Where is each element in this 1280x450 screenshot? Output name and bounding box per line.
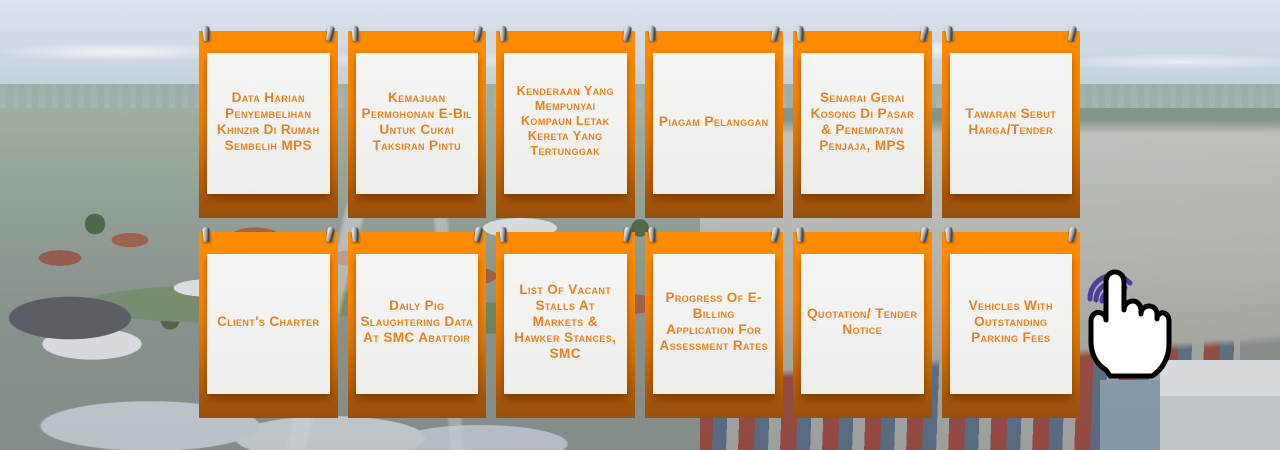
tile-title: List Of Vacant Stalls At Markets & Hawke… bbox=[509, 282, 622, 362]
tile-title: Client's Charter bbox=[217, 314, 319, 330]
service-tile-grid: Data Harian Penyembelihan Khinzir Di Rum… bbox=[199, 31, 1080, 418]
paper-clip-right-icon bbox=[920, 26, 929, 42]
tile-title: Data Harian Penyembelihan Khinzir Di Rum… bbox=[212, 90, 325, 154]
service-tile-9[interactable]: List Of Vacant Stalls At Markets & Hawke… bbox=[496, 232, 635, 418]
paper-note-icon[interactable]: Kenderaan Yang Mempunyai Kompaun Letak K… bbox=[504, 53, 627, 194]
paper-clip-left-icon bbox=[945, 227, 954, 243]
service-tile-8[interactable]: Daily Pig Slaughtering Data At SMC Abatt… bbox=[348, 232, 487, 418]
paper-clip-right-icon bbox=[474, 227, 483, 243]
paper-note-icon[interactable]: Progress Of e-Billing Application For As… bbox=[653, 254, 776, 394]
paper-note-icon[interactable]: Piagam Pelanggan bbox=[653, 53, 776, 194]
paper-clip-right-icon bbox=[771, 227, 780, 243]
tile-title: Progress Of e-Billing Application For As… bbox=[658, 290, 771, 354]
service-tile-7[interactable]: Client's Charter bbox=[199, 232, 338, 418]
tile-title: Tawaran Sebut Harga/Tender bbox=[955, 106, 1068, 138]
paper-clip-left-icon bbox=[945, 26, 954, 42]
paper-clip-right-icon bbox=[326, 26, 335, 42]
paper-note-icon[interactable]: Senarai Gerai Kosong di Pasar & Penempat… bbox=[801, 53, 924, 194]
service-tile-2[interactable]: Kemajuan Permohonan e-Bil Untuk Cukai Ta… bbox=[348, 31, 487, 218]
paper-note-icon[interactable]: Client's Charter bbox=[207, 254, 330, 394]
paper-clip-right-icon bbox=[623, 26, 632, 42]
paper-clip-right-icon bbox=[1068, 26, 1077, 42]
paper-clip-right-icon bbox=[1068, 227, 1077, 243]
paper-clip-right-icon bbox=[920, 227, 929, 243]
page-stage: Data Harian Penyembelihan Khinzir Di Rum… bbox=[0, 0, 1280, 450]
paper-note-icon[interactable]: Daily Pig Slaughtering Data At SMC Abatt… bbox=[356, 254, 479, 394]
paper-clip-left-icon bbox=[202, 227, 211, 243]
service-tile-4[interactable]: Piagam Pelanggan bbox=[645, 31, 784, 218]
paper-clip-left-icon bbox=[351, 26, 360, 42]
paper-note-icon[interactable]: Tawaran Sebut Harga/Tender bbox=[950, 53, 1073, 194]
service-tile-1[interactable]: Data Harian Penyembelihan Khinzir Di Rum… bbox=[199, 31, 338, 218]
paper-clip-left-icon bbox=[351, 227, 360, 243]
paper-clip-left-icon bbox=[648, 26, 657, 42]
paper-note-icon[interactable]: Vehicles With Outstanding Parking Fees bbox=[950, 254, 1073, 394]
service-tile-12[interactable]: Vehicles With Outstanding Parking Fees bbox=[942, 232, 1081, 418]
paper-clip-right-icon bbox=[326, 227, 335, 243]
tile-title: Quotation/ Tender Notice bbox=[806, 306, 919, 338]
tile-title: Senarai Gerai Kosong di Pasar & Penempat… bbox=[806, 90, 919, 154]
paper-clip-right-icon bbox=[771, 26, 780, 42]
service-tile-11[interactable]: Quotation/ Tender Notice bbox=[793, 232, 932, 418]
paper-clip-left-icon bbox=[796, 227, 805, 243]
tile-title: Kemajuan Permohonan e-Bil Untuk Cukai Ta… bbox=[361, 90, 474, 154]
service-tile-6[interactable]: Tawaran Sebut Harga/Tender bbox=[942, 31, 1081, 218]
tile-title: Piagam Pelanggan bbox=[659, 114, 769, 130]
service-tile-5[interactable]: Senarai Gerai Kosong di Pasar & Penempat… bbox=[793, 31, 932, 218]
tile-title: Kenderaan Yang Mempunyai Kompaun Letak K… bbox=[509, 84, 622, 159]
service-tile-3[interactable]: Kenderaan Yang Mempunyai Kompaun Letak K… bbox=[496, 31, 635, 218]
paper-note-icon[interactable]: Quotation/ Tender Notice bbox=[801, 254, 924, 394]
service-tile-10[interactable]: Progress Of e-Billing Application For As… bbox=[645, 232, 784, 418]
paper-note-icon[interactable]: Kemajuan Permohonan e-Bil Untuk Cukai Ta… bbox=[356, 53, 479, 194]
paper-clip-left-icon bbox=[648, 227, 657, 243]
paper-note-icon[interactable]: Data Harian Penyembelihan Khinzir Di Rum… bbox=[207, 53, 330, 194]
tile-title: Vehicles With Outstanding Parking Fees bbox=[955, 298, 1068, 346]
paper-note-icon[interactable]: List Of Vacant Stalls At Markets & Hawke… bbox=[504, 254, 627, 394]
paper-clip-right-icon bbox=[623, 227, 632, 243]
paper-clip-right-icon bbox=[474, 26, 483, 42]
tile-title: Daily Pig Slaughtering Data At SMC Abatt… bbox=[361, 298, 474, 346]
paper-clip-left-icon bbox=[499, 227, 508, 243]
